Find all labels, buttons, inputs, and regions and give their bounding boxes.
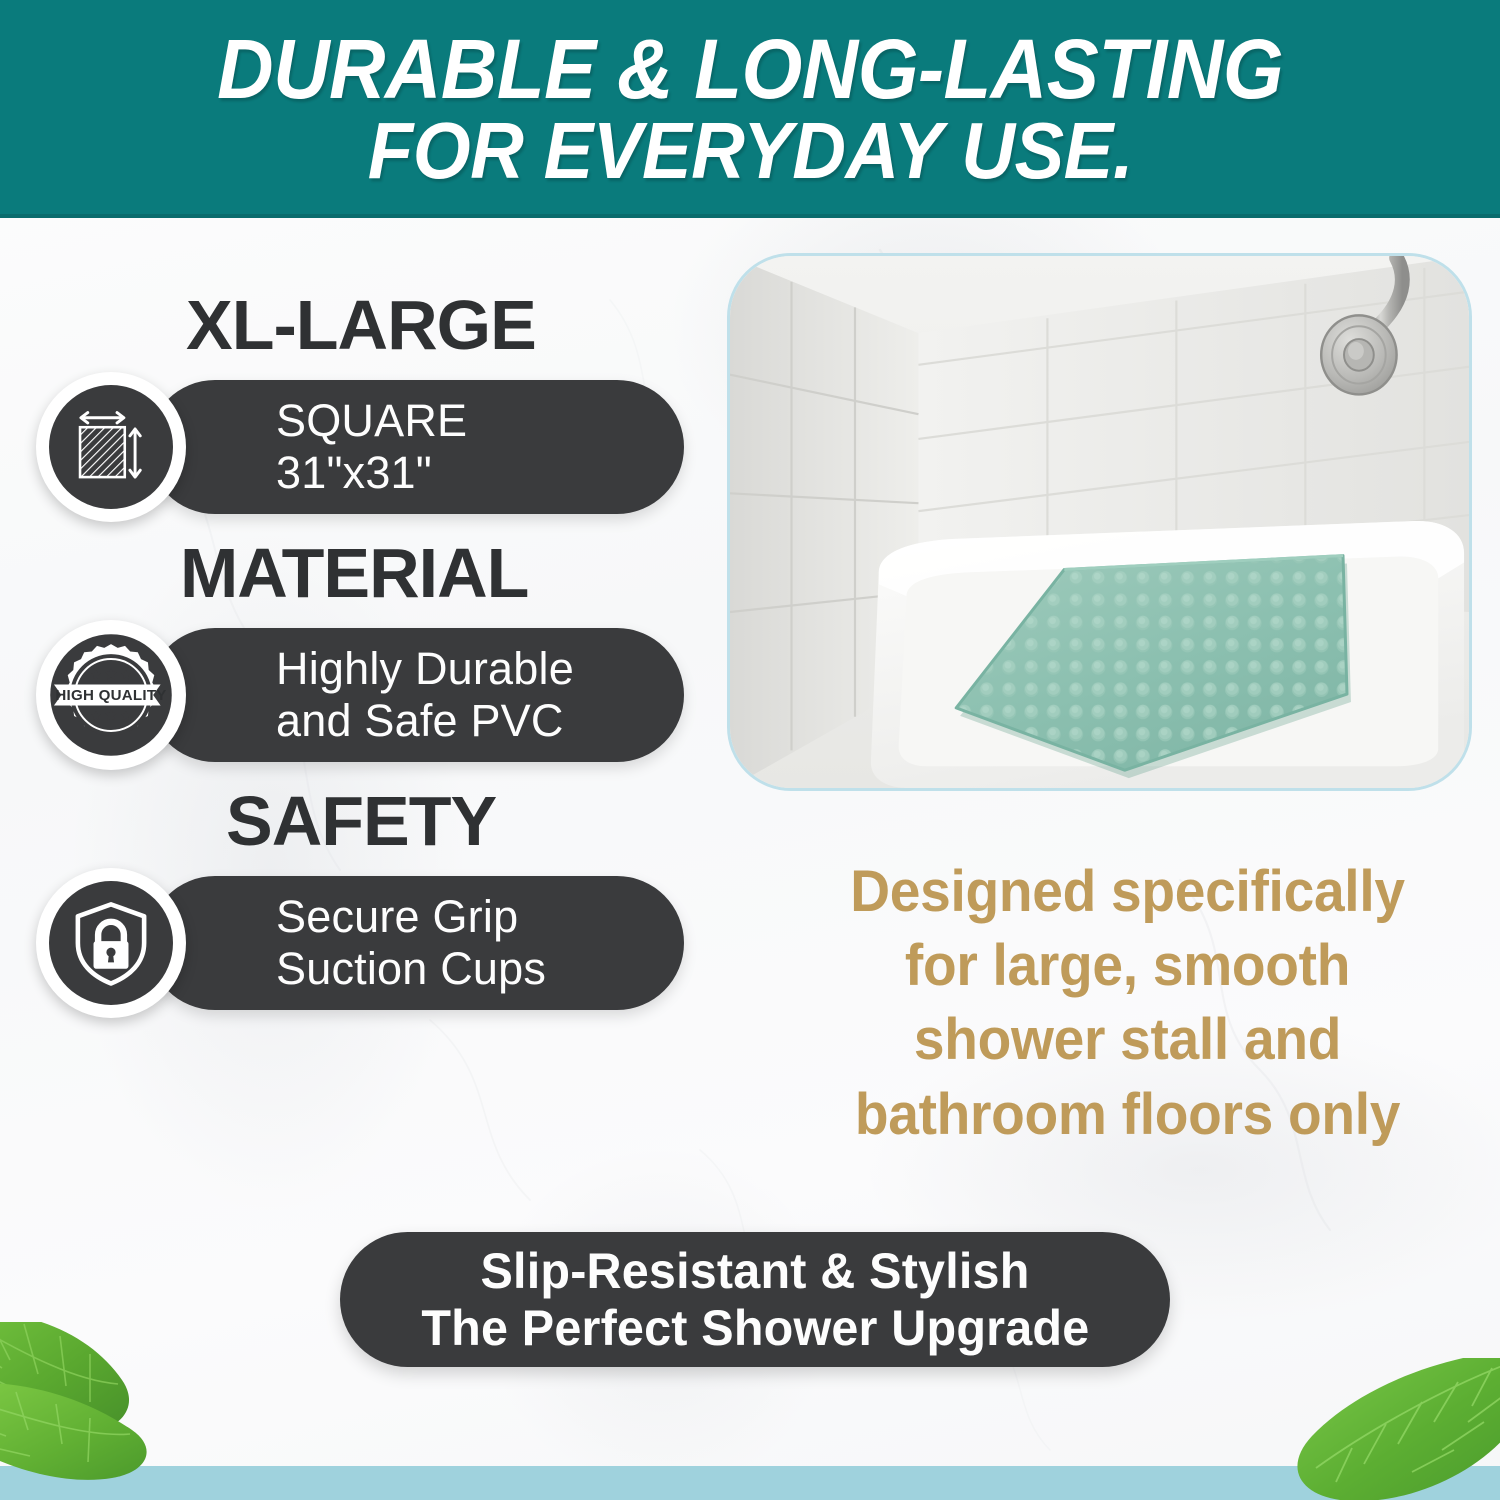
pill-line-2: Suction Cups <box>276 943 644 995</box>
feature-xl-large: XL-LARGE SQUARE 31"x31" <box>36 290 696 522</box>
banner-line-1: Slip-Resistant & Stylish <box>480 1243 1029 1300</box>
banner-line-2: The Perfect Shower Upgrade <box>421 1300 1089 1357</box>
gold-line-3: shower stall and <box>788 1003 1467 1077</box>
header-banner: DURABLE & LONG-LASTING FOR EVERYDAY USE. <box>0 0 1500 218</box>
dimension-square-icon <box>68 404 154 490</box>
feature-icon-badge: HIGH QUALITY <box>36 620 186 770</box>
feature-title: XL-LARGE <box>36 290 696 360</box>
leaf-icon <box>0 1322 302 1500</box>
gold-line-1: Designed specifically <box>788 855 1467 929</box>
shield-lock-icon <box>65 897 157 989</box>
header-line-1: DURABLE & LONG-LASTING <box>217 28 1283 111</box>
header-line-2: FOR EVERYDAY USE. <box>367 111 1132 190</box>
pill-line-1: Highly Durable <box>276 643 644 695</box>
product-photo <box>727 253 1472 791</box>
infographic-page: DURABLE & LONG-LASTING FOR EVERYDAY USE.… <box>0 0 1500 1500</box>
feature-pill: Highly Durable and Safe PVC <box>148 628 684 762</box>
feature-pill: SQUARE 31"x31" <box>148 380 684 514</box>
feature-safety: SAFETY Secure Grip Suction Cups <box>36 786 696 1018</box>
leaf-icon <box>1206 1358 1500 1500</box>
pill-line-1: Secure Grip <box>276 891 644 943</box>
feature-pill: Secure Grip Suction Cups <box>148 876 684 1010</box>
pill-line-2: 31"x31" <box>276 447 644 499</box>
high-quality-seal-icon: HIGH QUALITY <box>49 633 173 757</box>
gold-description: Designed specifically for large, smooth … <box>770 855 1485 1152</box>
feature-title: MATERIAL <box>36 538 696 608</box>
bottom-tagline-banner: Slip-Resistant & Stylish The Perfect Sho… <box>340 1232 1170 1367</box>
gold-line-2: for large, smooth <box>788 929 1467 1003</box>
shower-scene-image <box>730 256 1469 788</box>
feature-title: SAFETY <box>36 786 696 856</box>
feature-icon-badge <box>36 372 186 522</box>
feature-material: MATERIAL Highly Durable and Safe PVC <box>36 538 696 770</box>
feature-list: XL-LARGE SQUARE 31"x31" <box>36 290 696 1034</box>
feature-icon-badge <box>36 868 186 1018</box>
pill-line-2: and Safe PVC <box>276 695 644 747</box>
gold-line-4: bathroom floors only <box>788 1078 1467 1152</box>
seal-label: HIGH QUALITY <box>55 687 166 704</box>
pill-line-1: SQUARE <box>276 395 644 447</box>
